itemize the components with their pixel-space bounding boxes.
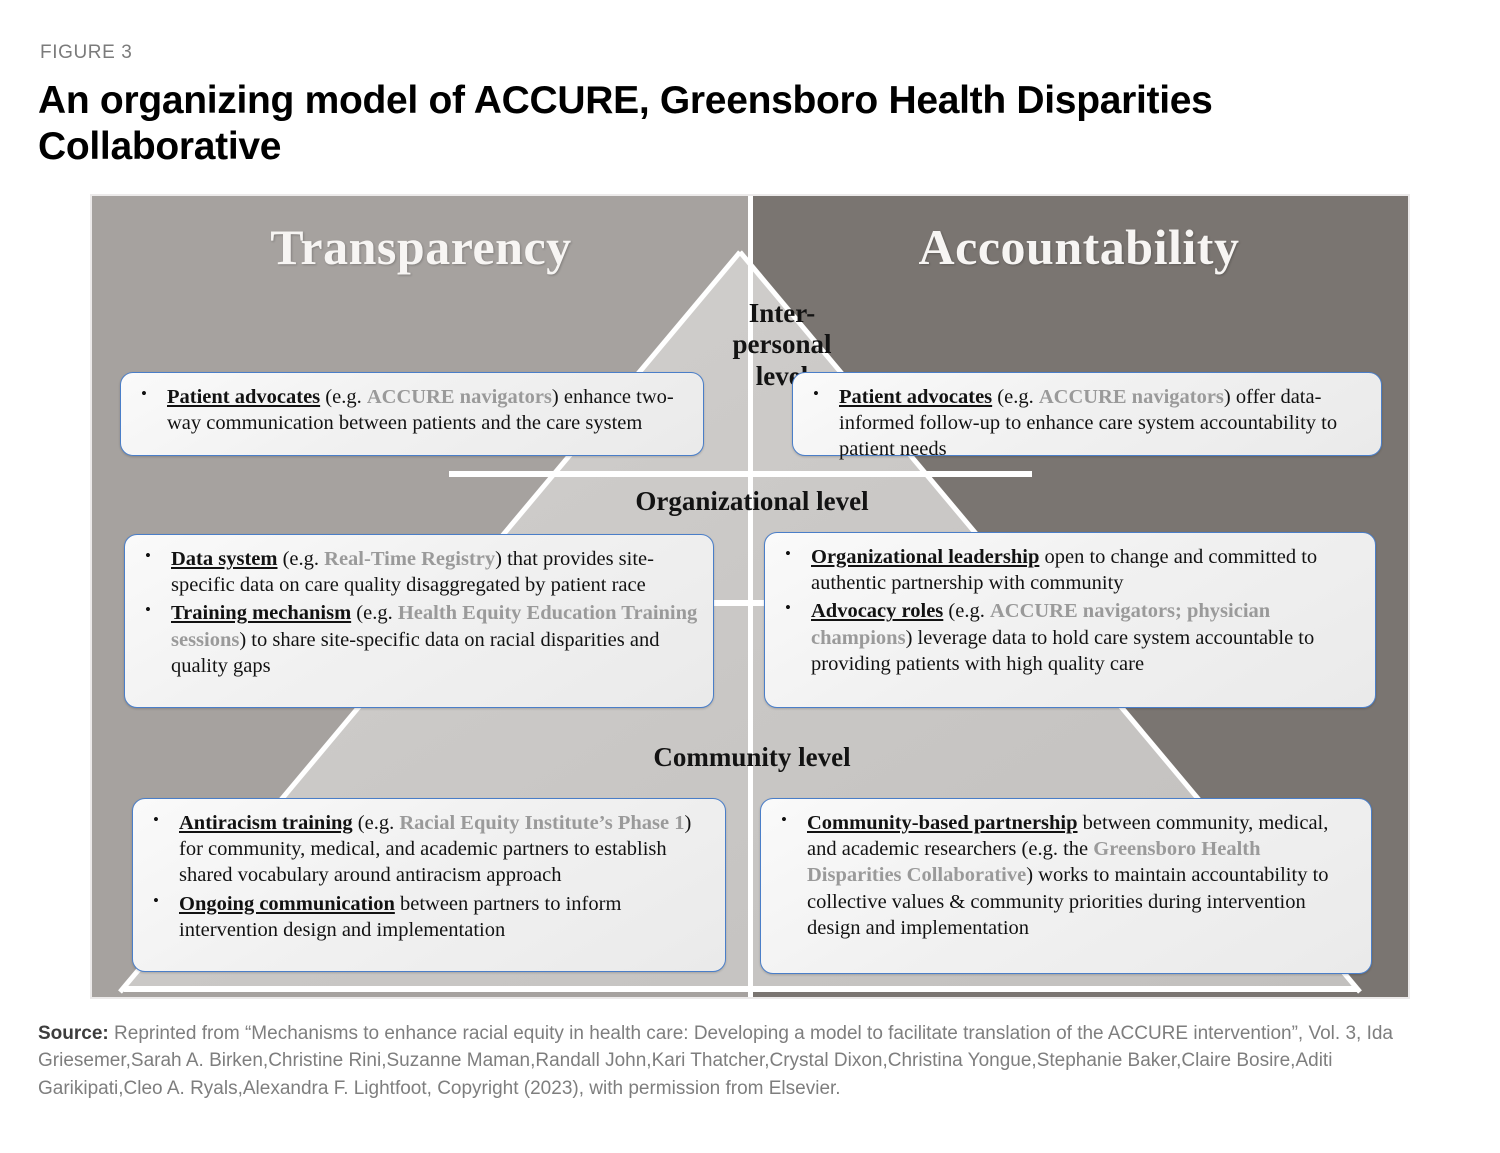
source-text: Reprinted from “Mechanisms to enhance ra… xyxy=(38,1023,1393,1099)
term-highlight: Ongoing communication xyxy=(179,893,395,915)
example-text: ACCURE navigators xyxy=(367,386,552,408)
list-item: Patient advocates (e.g. ACCURE navigator… xyxy=(805,384,1367,463)
body-text: (e.g. xyxy=(943,600,990,622)
column-heading-transparency: Transparency xyxy=(92,218,750,276)
column-heading-accountability: Accountability xyxy=(750,218,1408,276)
body-text: (e.g. xyxy=(277,548,324,570)
term-highlight: Data system xyxy=(171,548,277,570)
level-label-community: Community level xyxy=(422,742,1082,773)
bullet-list: Data system (e.g. Real-Time Registry) th… xyxy=(137,546,699,679)
list-item: Advocacy roles (e.g. ACCURE navigators; … xyxy=(777,598,1361,677)
list-item: Organizational leadership open to change… xyxy=(777,544,1361,596)
figure-page: FIGURE 3 An organizing model of ACCURE, … xyxy=(0,0,1500,1153)
example-text: Racial Equity Institute’s Phase 1 xyxy=(399,812,684,834)
list-item: Ongoing communication between partners t… xyxy=(145,891,711,943)
content-box-accountability-community[interactable]: Community-based partnership between comm… xyxy=(760,798,1372,974)
example-text: ACCURE navigators xyxy=(1039,386,1224,408)
body-text: (e.g. xyxy=(351,602,398,624)
body-text: (e.g. xyxy=(320,386,367,408)
diagram-frame: Transparency Accountability Inter-person… xyxy=(90,194,1410,999)
term-highlight: Community-based partnership xyxy=(807,812,1078,834)
bullet-list: Patient advocates (e.g. ACCURE navigator… xyxy=(133,384,689,436)
list-item: Community-based partnership between comm… xyxy=(773,810,1357,941)
list-item: Training mechanism (e.g. Health Equity E… xyxy=(137,600,699,679)
content-box-accountability-interpersonal[interactable]: Patient advocates (e.g. ACCURE navigator… xyxy=(792,372,1382,456)
bullet-list: Patient advocates (e.g. ACCURE navigator… xyxy=(805,384,1367,463)
content-box-transparency-interpersonal[interactable]: Patient advocates (e.g. ACCURE navigator… xyxy=(120,372,704,456)
source-label: Source: xyxy=(38,1023,109,1044)
term-highlight: Patient advocates xyxy=(839,386,992,408)
bullet-list: Antiracism training (e.g. Racial Equity … xyxy=(145,810,711,943)
page-title: An organizing model of ACCURE, Greensbor… xyxy=(38,78,1438,170)
term-highlight: Antiracism training xyxy=(179,812,353,834)
bullet-list: Community-based partnership between comm… xyxy=(773,810,1357,941)
body-text: ) to share site-specific data on racial … xyxy=(171,629,659,677)
body-text: (e.g. xyxy=(353,812,400,834)
content-box-transparency-organizational[interactable]: Data system (e.g. Real-Time Registry) th… xyxy=(124,534,714,708)
term-highlight: Training mechanism xyxy=(171,602,351,624)
term-highlight: Advocacy roles xyxy=(811,600,943,622)
list-item: Data system (e.g. Real-Time Registry) th… xyxy=(137,546,699,598)
body-text: (e.g. xyxy=(992,386,1039,408)
example-text: Real-Time Registry xyxy=(324,548,495,570)
term-highlight: Organizational leadership xyxy=(811,546,1039,568)
list-item: Antiracism training (e.g. Racial Equity … xyxy=(145,810,711,889)
term-highlight: Patient advocates xyxy=(167,386,320,408)
bullet-list: Organizational leadership open to change… xyxy=(777,544,1361,677)
content-box-accountability-organizational[interactable]: Organizational leadership open to change… xyxy=(764,532,1376,708)
figure-label: FIGURE 3 xyxy=(40,42,132,64)
level-label-organizational: Organizational level xyxy=(422,486,1082,517)
content-box-transparency-community[interactable]: Antiracism training (e.g. Racial Equity … xyxy=(132,798,726,972)
source-caption: Source: Reprinted from “Mechanisms to en… xyxy=(38,1020,1458,1102)
list-item: Patient advocates (e.g. ACCURE navigator… xyxy=(133,384,689,436)
